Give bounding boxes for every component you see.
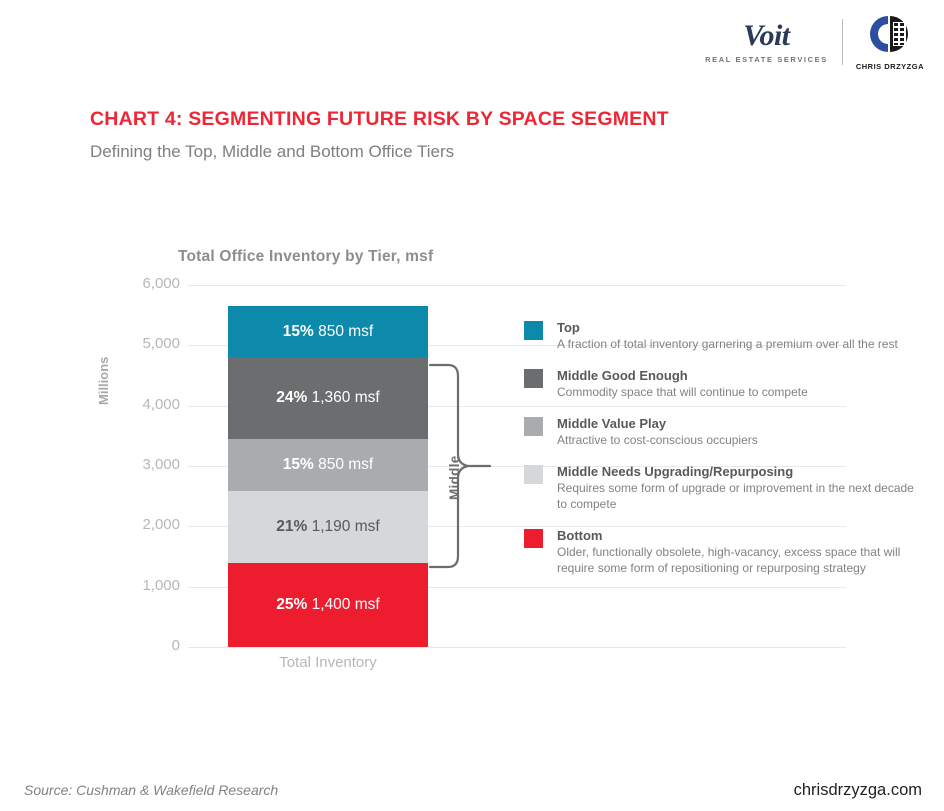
cd-monogram-icon [860, 14, 920, 59]
legend-description: Requires some form of upgrade or improve… [557, 481, 914, 513]
y-axis-tick-label: 0 [108, 637, 180, 654]
legend-item[interactable]: Middle Good EnoughCommodity space that w… [524, 368, 914, 401]
legend-swatch-icon [524, 465, 543, 484]
bar-segment-label: 21% 1,190 msf [276, 518, 379, 536]
legend-item[interactable]: Middle Value PlayAttractive to cost-cons… [524, 416, 914, 449]
legend-description: Commodity space that will continue to co… [557, 385, 914, 401]
legend-label: Top [557, 320, 914, 336]
brand-header: Voit REAL ESTATE SERVICES [705, 14, 924, 70]
gridline [188, 647, 846, 648]
bar-segment-label: 15% 850 msf [283, 323, 373, 341]
partner-name: CHRIS DRZYZGA [856, 62, 924, 71]
middle-bracket-icon [428, 362, 494, 570]
legend-text: Middle Good EnoughCommodity space that w… [557, 368, 914, 401]
bar-segment-label: 24% 1,360 msf [276, 389, 379, 407]
gridline [188, 285, 846, 286]
x-axis-category-label: Total Inventory [228, 654, 428, 671]
source-note: Source: Cushman & Wakefield Research [24, 782, 278, 798]
middle-bracket-label: Middle [447, 455, 462, 500]
chart-title: Total Office Inventory by Tier, msf [178, 248, 433, 266]
page-title: CHART 4: SEGMENTING FUTURE RISK BY SPACE… [90, 108, 669, 131]
y-axis-label: Millions [96, 357, 111, 405]
page-subtitle: Defining the Top, Middle and Bottom Offi… [90, 142, 454, 162]
legend-swatch-icon [524, 369, 543, 388]
voit-tagline: REAL ESTATE SERVICES [705, 55, 828, 64]
website-url: chrisdrzyzga.com [794, 781, 922, 800]
bar-segment: 21% 1,190 msf [228, 491, 428, 563]
bar-segment-label: 25% 1,400 msf [276, 596, 379, 614]
voit-logo: Voit REAL ESTATE SERVICES [705, 21, 842, 64]
legend-label: Middle Value Play [557, 416, 914, 432]
legend-label: Middle Needs Upgrading/Repurposing [557, 464, 914, 480]
y-axis-tick-label: 6,000 [108, 275, 180, 292]
bar-segment: 15% 850 msf [228, 439, 428, 490]
slide-canvas: Voit REAL ESTATE SERVICES [0, 0, 944, 811]
legend-text: Middle Value PlayAttractive to cost-cons… [557, 416, 914, 449]
chart-legend: TopA fraction of total inventory garneri… [524, 320, 914, 592]
y-axis-tick-label: 3,000 [108, 456, 180, 473]
legend-description: A fraction of total inventory garnering … [557, 337, 914, 353]
bar-segment: 15% 850 msf [228, 306, 428, 357]
legend-text: TopA fraction of total inventory garneri… [557, 320, 914, 353]
bar-segment-label: 15% 850 msf [283, 456, 373, 474]
voit-wordmark: Voit [743, 21, 789, 51]
legend-swatch-icon [524, 321, 543, 340]
chris-drzyzga-logo: CHRIS DRZYZGA [856, 14, 924, 71]
bar-segment: 25% 1,400 msf [228, 563, 428, 647]
legend-description: Attractive to cost-conscious occupiers [557, 433, 914, 449]
legend-item[interactable]: TopA fraction of total inventory garneri… [524, 320, 914, 353]
legend-item[interactable]: BottomOlder, functionally obsolete, high… [524, 528, 914, 577]
legend-text: Middle Needs Upgrading/RepurposingRequir… [557, 464, 914, 513]
legend-label: Middle Good Enough [557, 368, 914, 384]
bar-segment: 24% 1,360 msf [228, 357, 428, 439]
legend-label: Bottom [557, 528, 914, 544]
legend-swatch-icon [524, 417, 543, 436]
brand-divider [842, 19, 843, 65]
legend-swatch-icon [524, 529, 543, 548]
legend-description: Older, functionally obsolete, high-vacan… [557, 545, 914, 577]
y-axis-tick-label: 4,000 [108, 396, 180, 413]
y-axis-tick-label: 5,000 [108, 335, 180, 352]
y-axis-tick-label: 1,000 [108, 577, 180, 594]
y-axis-tick-label: 2,000 [108, 516, 180, 533]
legend-item[interactable]: Middle Needs Upgrading/RepurposingRequir… [524, 464, 914, 513]
legend-text: BottomOlder, functionally obsolete, high… [557, 528, 914, 577]
